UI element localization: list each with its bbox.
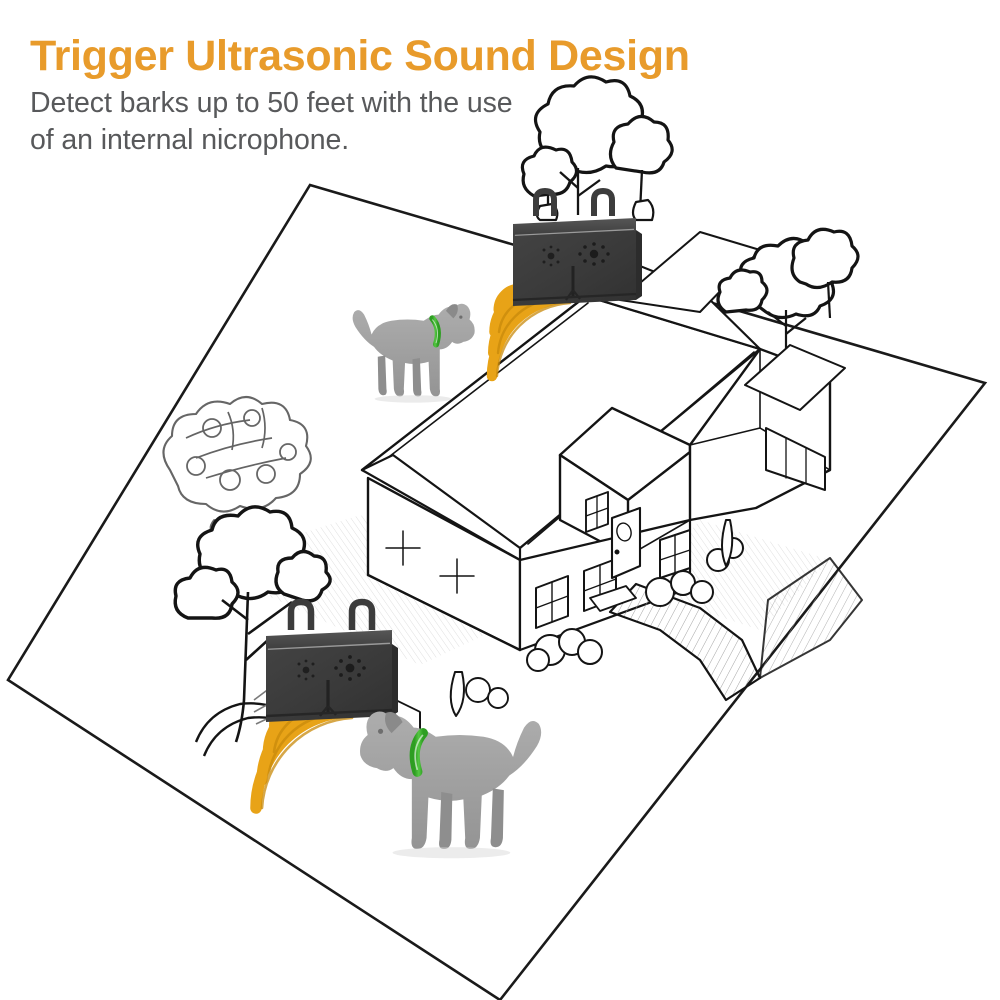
page-title: Trigger Ultrasonic Sound Design [30,34,650,79]
page-subtitle: Detect barks up to 50 feet with the use … [30,85,520,159]
text-block: Trigger Ultrasonic Sound Design Detect b… [30,34,650,159]
illustration-canvas: Trigger Ultrasonic Sound Design Detect b… [0,0,1000,1000]
